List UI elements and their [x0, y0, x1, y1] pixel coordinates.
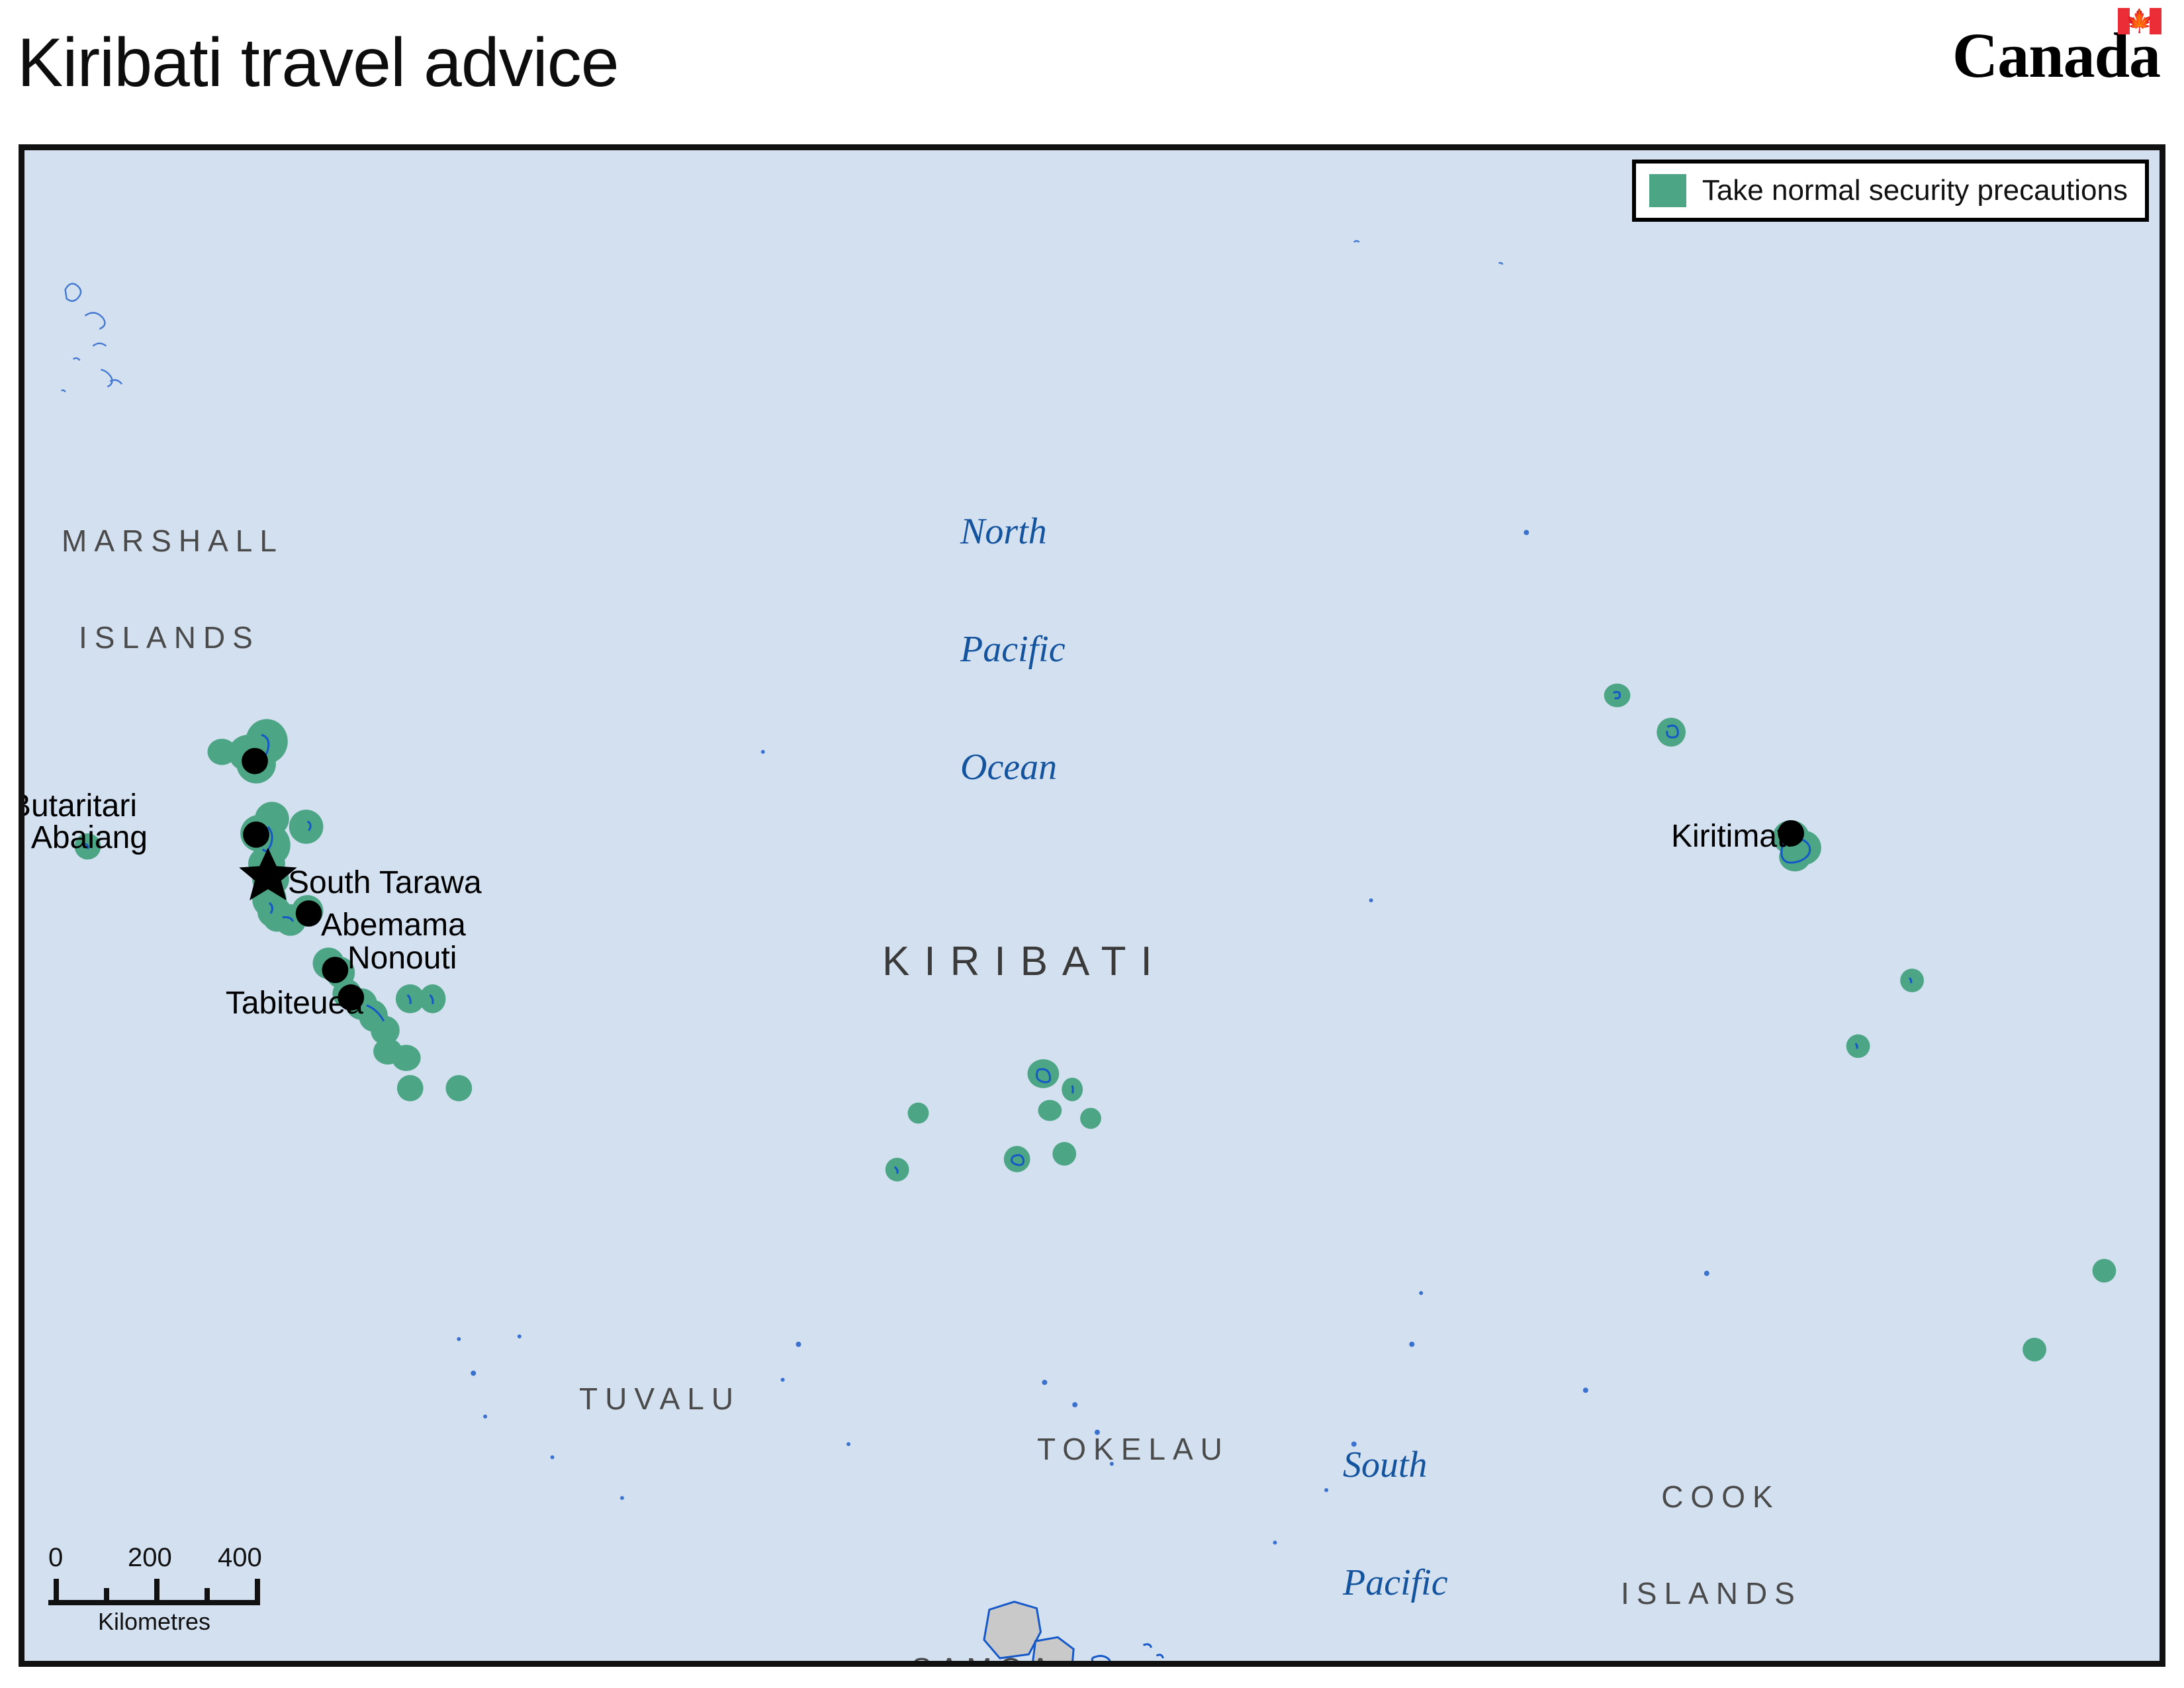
country-label-tuvalu: TUVALU: [579, 1318, 741, 1479]
marker-butaritari: [242, 748, 268, 774]
country-label-kiribati: KIRIBATI: [882, 853, 1167, 1071]
legend-swatch-normal-precautions: [1649, 174, 1686, 207]
country-label-line: SAMOA: [911, 1653, 1058, 1667]
marker-abemama: [296, 900, 322, 927]
city-label-abemama: Abemama: [321, 909, 466, 943]
marker-nonouti: [322, 957, 348, 983]
scalebar-tick-mark-major: [154, 1579, 159, 1605]
scalebar-tick-labels: 0 200 400: [48, 1543, 260, 1575]
page-header: Kiribati travel advice Canada 🍁: [0, 0, 2184, 144]
scalebar-baseline: [48, 1600, 255, 1605]
coastline-traces: [62, 241, 1503, 392]
country-label-cook-islands: COOK ISLANDS: [1639, 1416, 1802, 1667]
ocean-label-north-pacific: North Pacific Ocean: [960, 434, 1066, 866]
country-label-american-samoa: AMERICAN SAMOA: [1189, 1630, 1408, 1667]
map-legend: Take normal security precautions: [1632, 160, 2149, 222]
canada-wordmark: Canada 🍁: [1952, 24, 2160, 101]
scalebar-tick-400: 400: [218, 1543, 262, 1573]
country-label-line: TOKELAU: [1037, 1433, 1230, 1466]
land-american-samoa: [1092, 1644, 1163, 1661]
maple-leaf-icon: 🍁: [2126, 10, 2154, 32]
country-label-line: MARSHALL: [62, 525, 284, 557]
city-label-nonouti: Nonouti: [347, 942, 457, 976]
country-label-line: COOK: [1639, 1481, 1802, 1513]
advisory-areas-line: [1604, 684, 2116, 1362]
scalebar-tick-mark-minor: [205, 1588, 210, 1605]
country-label-marshall-islands: MARSHALL ISLANDS: [62, 460, 284, 718]
scalebar-caption: Kilometres: [48, 1608, 260, 1636]
ocean-label-line: Ocean: [960, 748, 1066, 787]
city-label-abaiang: Abaiang: [31, 821, 148, 855]
scalebar-tick-mark-minor: [104, 1588, 109, 1605]
country-label-line: TUVALU: [579, 1383, 741, 1415]
ocean-label-line: Pacific: [1343, 1564, 1448, 1603]
city-label-butaritari: Butaritari: [19, 790, 137, 823]
page-title: Kiribati travel advice: [17, 24, 619, 103]
ocean-label-line: South: [1343, 1446, 1448, 1485]
ocean-label-line: Pacific: [960, 630, 1066, 669]
city-label-tabiteuea: Tabiteuea: [226, 987, 363, 1021]
marker-abaiang: [243, 821, 269, 848]
country-label-line: ISLANDS: [62, 622, 284, 654]
ocean-label-south-pacific: South Pacific Ocean: [1343, 1367, 1448, 1667]
map-scalebar: 0 200 400 Kilometres: [48, 1543, 260, 1636]
city-label-kiritimati: Kiritimati: [1671, 820, 1793, 854]
scalebar-bar: [48, 1575, 260, 1605]
advisory-areas-phoenix: [886, 1059, 1101, 1182]
scalebar-tick-mark-major: [255, 1579, 260, 1605]
country-label-tokelau: TOKELAU: [1037, 1368, 1230, 1530]
ocean-label-line: North: [960, 512, 1066, 551]
city-label-south-tarawa: South Tarawa: [288, 867, 482, 900]
scalebar-tick-200: 200: [128, 1543, 172, 1573]
scattered-reefs: [457, 530, 2048, 1661]
map-canvas[interactable]: North Pacific Ocean South Pacific Ocean …: [19, 144, 2165, 1667]
country-label-line: ISLANDS: [1621, 1577, 1802, 1610]
scalebar-tick-0: 0: [48, 1543, 63, 1573]
country-label-samoa: SAMOA: [911, 1588, 1058, 1667]
scalebar-tick-mark-major: [54, 1579, 59, 1605]
country-label-line: KIRIBATI: [882, 940, 1167, 984]
canadian-flag-icon: 🍁: [2118, 8, 2161, 34]
legend-label-normal-precautions: Take normal security precautions: [1702, 174, 2128, 207]
